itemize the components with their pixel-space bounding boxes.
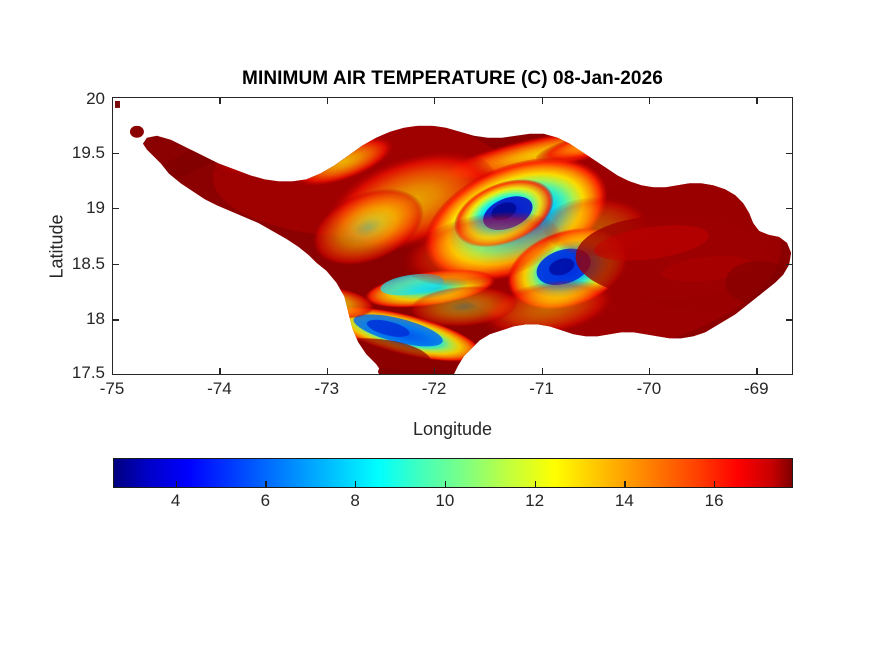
xtick-mark	[219, 368, 220, 375]
ytick-mark	[112, 264, 119, 265]
ytick-mark	[112, 374, 119, 375]
colorbar-tick	[355, 481, 356, 488]
xtick-mark	[649, 368, 650, 375]
xtick-mark	[327, 368, 328, 375]
page-title: MINIMUM AIR TEMPERATURE (C) 08-Jan-2026	[112, 68, 793, 90]
colorbar-tick	[624, 481, 625, 488]
xtick-label: -70	[637, 379, 662, 399]
ytick-label: 20	[53, 89, 105, 109]
xtick-label: -73	[315, 379, 340, 399]
figure-canvas: MINIMUM AIR TEMPERATURE (C) 08-Jan-2026	[0, 0, 875, 656]
xtick-label: -72	[422, 379, 447, 399]
colorbar-tick	[176, 481, 177, 488]
colorbar-tick	[714, 481, 715, 488]
colorbar-tick	[535, 481, 536, 488]
colorbar-tick-label: 6	[261, 491, 270, 511]
xtick-mark-top	[756, 97, 757, 104]
ytick-mark-right	[786, 264, 793, 265]
colorbar-tick-label: 12	[525, 491, 544, 511]
xtick-mark-top	[649, 97, 650, 104]
xtick-mark	[756, 368, 757, 375]
colorbar-tick	[265, 481, 266, 488]
colorbar-tick-label: 16	[705, 491, 724, 511]
temperature-heatmap	[113, 98, 792, 374]
colorbar-gradient	[113, 458, 793, 488]
colorbar-tick-label: 10	[435, 491, 454, 511]
colorbar[interactable]: 4 6 8 10 12 14 16	[113, 458, 793, 488]
ytick-label: 17.5	[53, 363, 105, 383]
y-axis-label: Latitude	[47, 167, 68, 327]
ytick-mark	[112, 153, 119, 154]
ytick-mark-right	[786, 153, 793, 154]
xtick-mark	[542, 368, 543, 375]
map-speck	[115, 101, 120, 108]
map-axes[interactable]	[112, 97, 793, 375]
xtick-label: -69	[744, 379, 769, 399]
ytick-mark	[112, 319, 119, 320]
xtick-mark-top	[434, 97, 435, 104]
xtick-mark-top	[219, 97, 220, 104]
xtick-mark	[434, 368, 435, 375]
colorbar-tick-label: 8	[350, 491, 359, 511]
xtick-mark-top	[542, 97, 543, 104]
xtick-label: -74	[207, 379, 232, 399]
xtick-label: -71	[529, 379, 554, 399]
colorbar-tick-label: 14	[615, 491, 634, 511]
island-temperature-field	[113, 98, 792, 374]
colorbar-tick	[445, 481, 446, 488]
ytick-mark-right	[786, 319, 793, 320]
ytick-mark	[112, 97, 119, 98]
colorbar-tick-label: 4	[171, 491, 180, 511]
x-axis-label: Longitude	[112, 419, 793, 440]
xtick-mark-top	[327, 97, 328, 104]
ytick-mark	[112, 208, 119, 209]
ytick-mark-right	[786, 208, 793, 209]
ytick-label: 19.5	[53, 143, 105, 163]
